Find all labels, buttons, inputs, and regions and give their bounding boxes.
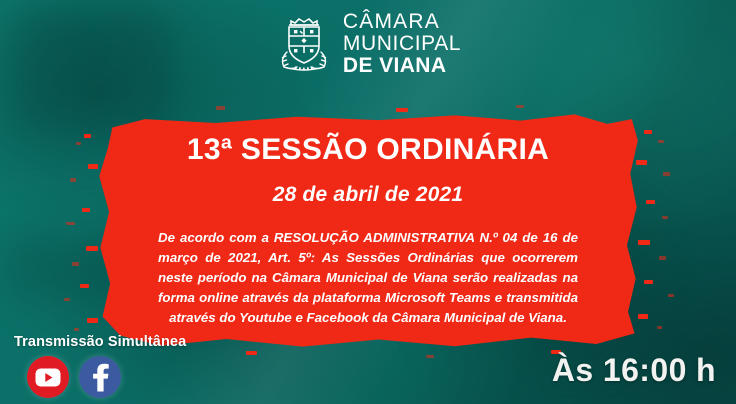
session-description: De acordo com a RESOLUÇÃO ADMINISTRATIVA… bbox=[158, 228, 578, 329]
paint-splatter bbox=[70, 178, 76, 182]
paint-splatter bbox=[663, 172, 670, 176]
paint-splatter bbox=[659, 256, 666, 260]
brand-line-camara: CÂMARA bbox=[343, 11, 461, 32]
announcement-poster: CÂMARA MUNICIPAL DE VIANA bbox=[0, 0, 736, 404]
facebook-icon bbox=[89, 362, 111, 392]
paint-splatter bbox=[516, 105, 524, 108]
paint-splatter bbox=[80, 284, 89, 288]
brand-line-de-viana: DE VIANA bbox=[343, 55, 461, 76]
paint-splatter bbox=[76, 142, 81, 145]
youtube-link[interactable] bbox=[27, 356, 69, 398]
facebook-link[interactable] bbox=[79, 356, 121, 398]
paint-splatter bbox=[72, 262, 79, 266]
paint-splatter bbox=[74, 328, 79, 331]
paint-splatter bbox=[216, 106, 225, 110]
paint-splatter bbox=[82, 208, 90, 212]
brand-lockup: CÂMARA MUNICIPAL DE VIANA bbox=[0, 11, 736, 75]
red-banner: 13ª SESSÃO ORDINÁRIA 28 de abril de 2021… bbox=[96, 112, 640, 350]
paint-splatter bbox=[658, 140, 664, 143]
paint-splatter bbox=[644, 280, 653, 284]
paint-splatter bbox=[657, 326, 662, 329]
brand-text: CÂMARA MUNICIPAL DE VIANA bbox=[343, 11, 461, 76]
youtube-icon bbox=[35, 368, 61, 387]
paint-splatter bbox=[84, 134, 91, 138]
paint-splatter bbox=[662, 216, 668, 219]
coat-of-arms-crest-icon bbox=[275, 12, 333, 74]
banner-content: 13ª SESSÃO ORDINÁRIA 28 de abril de 2021… bbox=[96, 112, 640, 350]
paint-splatter bbox=[246, 351, 257, 355]
session-title: 13ª SESSÃO ORDINÁRIA bbox=[187, 134, 549, 166]
paint-splatter bbox=[668, 294, 674, 297]
air-time: Às 16:00 h bbox=[552, 352, 716, 389]
paint-splatter bbox=[66, 222, 75, 225]
brand-line-municipal: MUNICIPAL bbox=[343, 33, 461, 54]
session-date: 28 de abril de 2021 bbox=[273, 183, 464, 207]
paint-splatter bbox=[646, 200, 655, 204]
paint-splatter bbox=[64, 298, 70, 301]
paint-splatter bbox=[644, 130, 652, 134]
paint-splatter bbox=[426, 355, 434, 358]
social-links bbox=[27, 356, 121, 398]
simulcast-label: Transmissão Simultânea bbox=[14, 334, 186, 350]
